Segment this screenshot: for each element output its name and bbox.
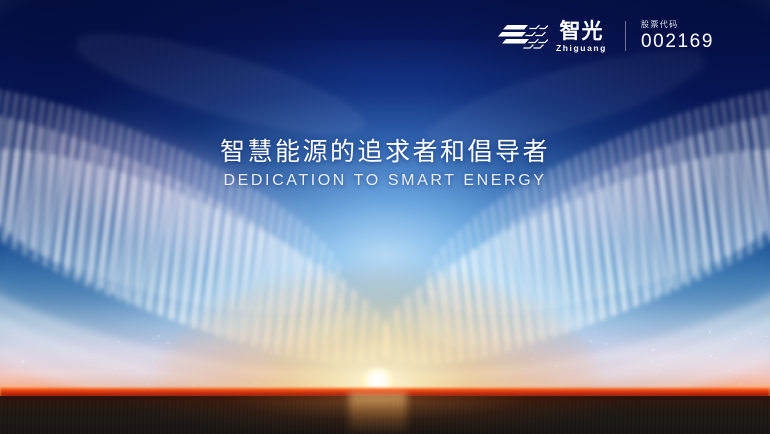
company-logo[interactable]: 智光 Zhiguang [496, 20, 607, 53]
sky-gradient-background [0, 0, 770, 434]
logo-name-pinyin: Zhiguang [556, 44, 607, 53]
zhiguang-wave-bars-logo-icon [496, 23, 548, 50]
brand-lockup[interactable]: 智光 Zhiguang 股票代码 002169 [496, 20, 714, 53]
hero-banner: 智光 Zhiguang 股票代码 002169 智慧能源的追求者和倡导者 DED… [0, 0, 770, 434]
stock-code-label: 股票代码 [641, 21, 679, 29]
stock-code-value: 002169 [641, 32, 714, 51]
logo-name-cn: 智光 [559, 20, 603, 42]
brand-divider [625, 21, 626, 51]
stock-code-block: 股票代码 002169 [641, 21, 714, 51]
logo-wordmark: 智光 Zhiguang [556, 20, 607, 53]
